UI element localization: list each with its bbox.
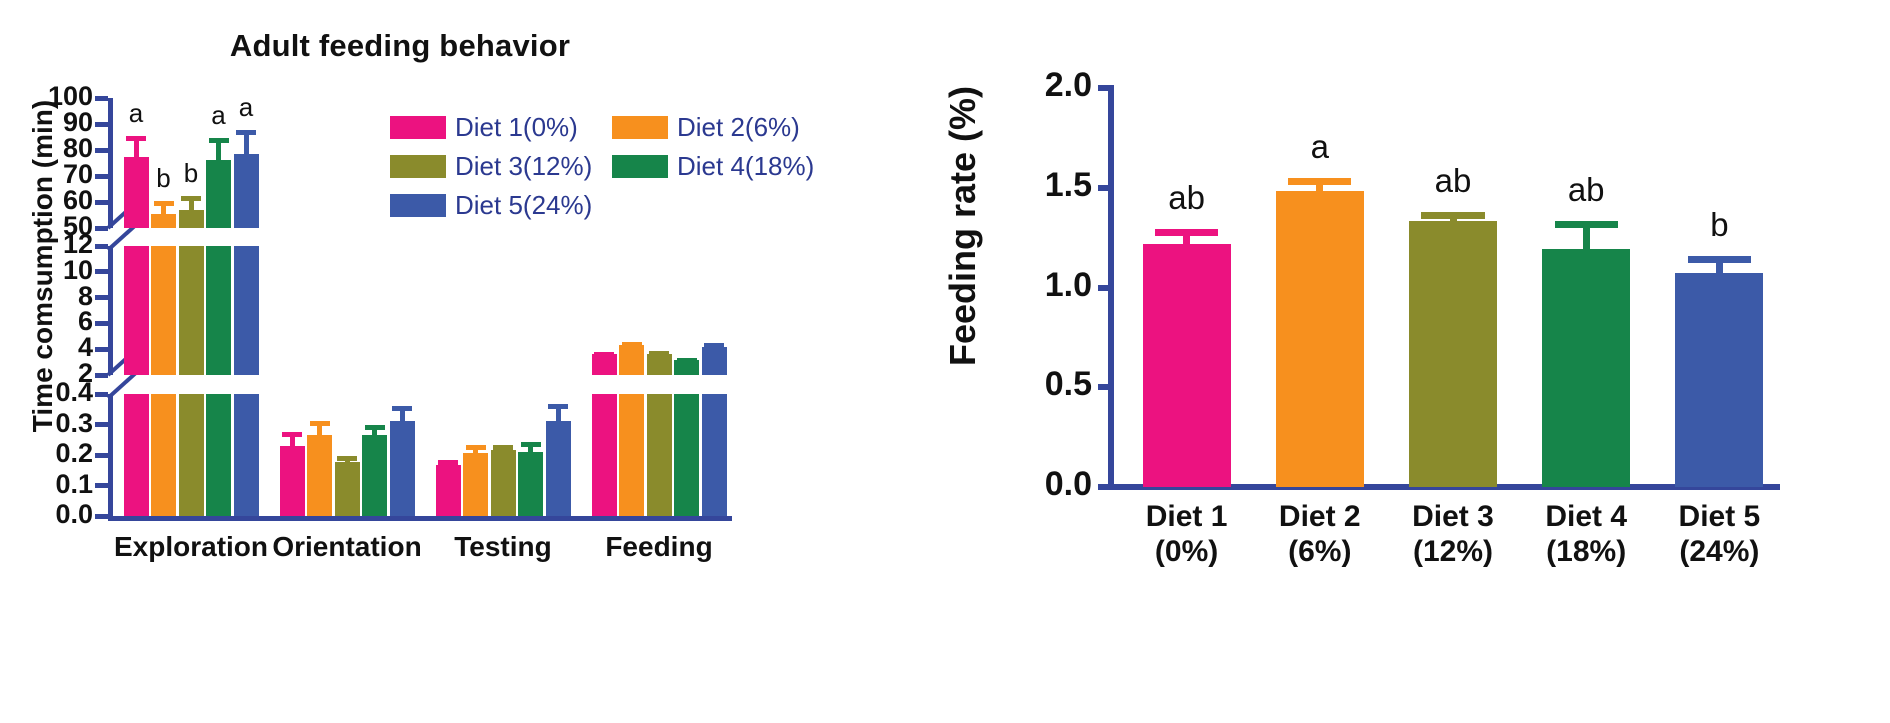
bar: [362, 435, 387, 516]
bar: [674, 394, 699, 516]
right-axis-tick-label: 1.5: [984, 166, 1092, 205]
error-bar: [335, 456, 360, 462]
left-axis-tick-label: 100: [0, 81, 93, 112]
error-bar: [280, 432, 305, 446]
significance-letter: ab: [1115, 179, 1259, 217]
legend-row: Diet 3(12%) Diet 4(18%): [390, 151, 780, 190]
right-axis-tick: [1098, 384, 1114, 390]
bar: [702, 347, 727, 375]
error-bar-cap: [594, 352, 614, 357]
legend-swatch-diet2: [612, 116, 668, 139]
bar: [206, 246, 231, 375]
significance-letter: a: [222, 92, 271, 123]
left-chart-title: Adult feeding behavior: [120, 28, 680, 64]
right-axis-tick: [1098, 185, 1114, 191]
legend-row: Diet 1(0%) Diet 2(6%): [390, 112, 780, 151]
error-bar: [647, 351, 672, 354]
error-bar-cap: [1288, 178, 1351, 185]
error-bar-cap: [337, 456, 357, 461]
left-axis-tick: [95, 422, 108, 427]
error-bar-cap: [1421, 212, 1484, 219]
bar: [206, 160, 231, 228]
right-chart-ylabel: Feeding rate (%): [942, 11, 984, 441]
legend-item-diet5[interactable]: Diet 5(24%): [390, 190, 592, 221]
left-axis-tick: [95, 122, 108, 127]
left-axis-tick-label: 0.0: [0, 499, 93, 530]
left-axis-tick: [95, 148, 108, 153]
left-category-label: Exploration: [113, 531, 269, 563]
bar: [518, 452, 543, 516]
significance-letter: ab: [1514, 171, 1658, 209]
error-bar-cap: [493, 445, 513, 450]
bar: [1276, 191, 1364, 487]
left-chart-legend: Diet 1(0%) Diet 2(6%) Diet 3(12%) Diet 4…: [390, 112, 780, 229]
legend-swatch-diet4: [612, 155, 668, 178]
error-bar-cap: [677, 358, 697, 363]
legend-label-diet2: Diet 2(6%): [677, 112, 800, 143]
error-bar-cap: [282, 432, 302, 437]
bar: [151, 214, 176, 228]
bar: [234, 246, 259, 375]
error-bar-cap: [704, 343, 724, 348]
error-bar-cap: [548, 404, 568, 409]
chart-adult-feeding-behavior: Adult feeding behavior Time comsumption …: [0, 0, 820, 600]
error-bar: [1675, 256, 1763, 273]
bar: [592, 394, 617, 516]
bar: [151, 394, 176, 516]
right-category-label: Diet 5(24%): [1653, 500, 1786, 569]
left-axis-tick: [95, 174, 108, 179]
right-category-label-line: (6%): [1253, 535, 1386, 570]
error-bar: [518, 442, 543, 452]
figure-root: Adult feeding behavior Time comsumption …: [0, 0, 1890, 723]
left-category-label: Feeding: [581, 531, 737, 563]
left-axis-tick: [95, 453, 108, 458]
left-category-label: Orientation: [269, 531, 425, 563]
error-bar: [307, 421, 332, 436]
left-axis-tick: [95, 392, 108, 397]
right-category-label-line: (24%): [1653, 535, 1786, 570]
error-bar: [1143, 229, 1231, 244]
bar: [206, 394, 231, 516]
significance-letter: ab: [1381, 162, 1525, 200]
error-bar-cap: [438, 460, 458, 465]
right-category-label: Diet 1(0%): [1120, 500, 1253, 569]
left-axis-tick-label: 0.1: [0, 469, 93, 500]
bar: [546, 421, 571, 516]
error-bar-cap: [466, 445, 486, 450]
bar: [234, 154, 259, 228]
legend-swatch-diet5: [390, 194, 446, 217]
bar: [1409, 221, 1497, 487]
error-bar: [179, 196, 204, 210]
bar: [179, 210, 204, 228]
right-category-label: Diet 4(18%): [1520, 500, 1653, 569]
error-bar: [463, 445, 488, 453]
significance-letter: a: [112, 98, 161, 129]
error-bar: [1276, 178, 1364, 191]
error-bar: [124, 136, 149, 157]
bar: [124, 394, 149, 516]
left-axis-tick: [95, 483, 108, 488]
bar: [647, 354, 672, 375]
right-category-label-line: Diet 4: [1520, 500, 1653, 535]
error-bar-cap: [1155, 229, 1218, 236]
bar: [436, 465, 461, 516]
legend-item-diet1[interactable]: Diet 1(0%): [390, 112, 578, 143]
right-category-label-line: (12%): [1386, 535, 1519, 570]
bar: [463, 453, 488, 516]
left-axis-tick: [95, 347, 108, 352]
bar: [124, 246, 149, 375]
chart-feeding-rate: Feeding rate (%) 0.00.51.01.52.0 abaabab…: [880, 0, 1890, 723]
bar: [390, 421, 415, 516]
bar: [234, 394, 259, 516]
error-bar-cap: [126, 136, 146, 141]
left-axis-tick: [95, 244, 108, 249]
significance-letter: a: [1248, 128, 1392, 166]
legend-item-diet2[interactable]: Diet 2(6%): [612, 112, 800, 143]
left-axis-segment: [108, 394, 113, 516]
error-bar: [390, 406, 415, 421]
error-bar: [702, 343, 727, 348]
right-category-label-line: Diet 5: [1653, 500, 1786, 535]
right-category-label: Diet 2(6%): [1253, 500, 1386, 569]
legend-swatch-diet1: [390, 116, 446, 139]
bar: [179, 246, 204, 375]
error-bar: [491, 445, 516, 450]
left-axis-tick: [95, 295, 108, 300]
bar: [179, 394, 204, 516]
left-axis-segment: [108, 246, 113, 375]
bar: [619, 394, 644, 516]
error-bar: [1542, 221, 1630, 249]
error-bar: [234, 130, 259, 155]
bar: [280, 446, 305, 516]
left-axis-tick-label: 0.4: [0, 377, 93, 408]
error-bar-cap: [365, 425, 385, 430]
left-axis-tick: [95, 96, 108, 101]
bar: [592, 354, 617, 375]
error-bar: [436, 460, 461, 465]
error-bar: [674, 358, 699, 360]
error-bar-cap: [154, 201, 174, 206]
right-category-label: Diet 3(12%): [1386, 500, 1519, 569]
legend-label-diet4: Diet 4(18%): [677, 151, 814, 182]
left-axis-tick-label: 12: [0, 229, 93, 260]
legend-item-diet3[interactable]: Diet 3(12%): [390, 151, 592, 182]
right-category-label-line: Diet 1: [1120, 500, 1253, 535]
legend-label-diet5: Diet 5(24%): [455, 190, 592, 221]
error-bar: [362, 425, 387, 435]
bar: [1143, 244, 1231, 487]
legend-row: Diet 5(24%): [390, 190, 780, 229]
error-bar: [546, 404, 571, 421]
left-axis-tick-label: 0.3: [0, 408, 93, 439]
left-axis-tick: [95, 321, 108, 326]
error-bar: [151, 201, 176, 214]
bar: [647, 394, 672, 516]
left-axis-tick: [95, 200, 108, 205]
error-bar-cap: [521, 442, 541, 447]
left-axis-tick: [95, 514, 108, 519]
bar: [335, 462, 360, 516]
legend-label-diet3: Diet 3(12%): [455, 151, 592, 182]
error-bar-cap: [622, 342, 642, 347]
right-category-label-line: (0%): [1120, 535, 1253, 570]
bar: [1675, 273, 1763, 487]
left-axis-tick-label: 0.2: [0, 438, 93, 469]
error-bar-cap: [209, 138, 229, 143]
significance-letter: b: [1647, 206, 1791, 244]
right-category-label-line: (18%): [1520, 535, 1653, 570]
bar: [151, 246, 176, 375]
right-axis-tick: [1098, 484, 1114, 490]
error-bar-cap: [310, 421, 330, 426]
bar: [307, 435, 332, 516]
bar: [619, 345, 644, 375]
right-axis-tick-label: 0.5: [984, 365, 1092, 404]
right-category-label-line: Diet 3: [1386, 500, 1519, 535]
error-bar-cap: [392, 406, 412, 411]
right-category-label-line: Diet 2: [1253, 500, 1386, 535]
bar: [491, 450, 516, 516]
legend-label-diet1: Diet 1(0%): [455, 112, 578, 143]
right-axis-tick: [1098, 285, 1114, 291]
left-category-label: Testing: [425, 531, 581, 563]
right-axis-tick-label: 1.0: [984, 266, 1092, 305]
error-bar-cap: [649, 351, 669, 356]
error-bar: [619, 342, 644, 346]
right-axis-tick-label: 0.0: [984, 465, 1092, 504]
error-bar: [1409, 212, 1497, 221]
error-bar-cap: [1555, 221, 1618, 228]
right-axis-tick: [1098, 85, 1114, 91]
bar: [1542, 249, 1630, 487]
left-axis-tick: [95, 269, 108, 274]
legend-swatch-diet3: [390, 155, 446, 178]
error-bar-cap: [181, 196, 201, 201]
error-bar: [206, 138, 231, 160]
error-bar: [592, 352, 617, 354]
error-bar-cap: [1688, 256, 1751, 263]
right-axis-tick-label: 2.0: [984, 66, 1092, 105]
error-bar-cap: [236, 130, 256, 135]
bar: [702, 394, 727, 516]
left-chart-baseline: [108, 516, 732, 521]
legend-item-diet4[interactable]: Diet 4(18%): [612, 151, 814, 182]
